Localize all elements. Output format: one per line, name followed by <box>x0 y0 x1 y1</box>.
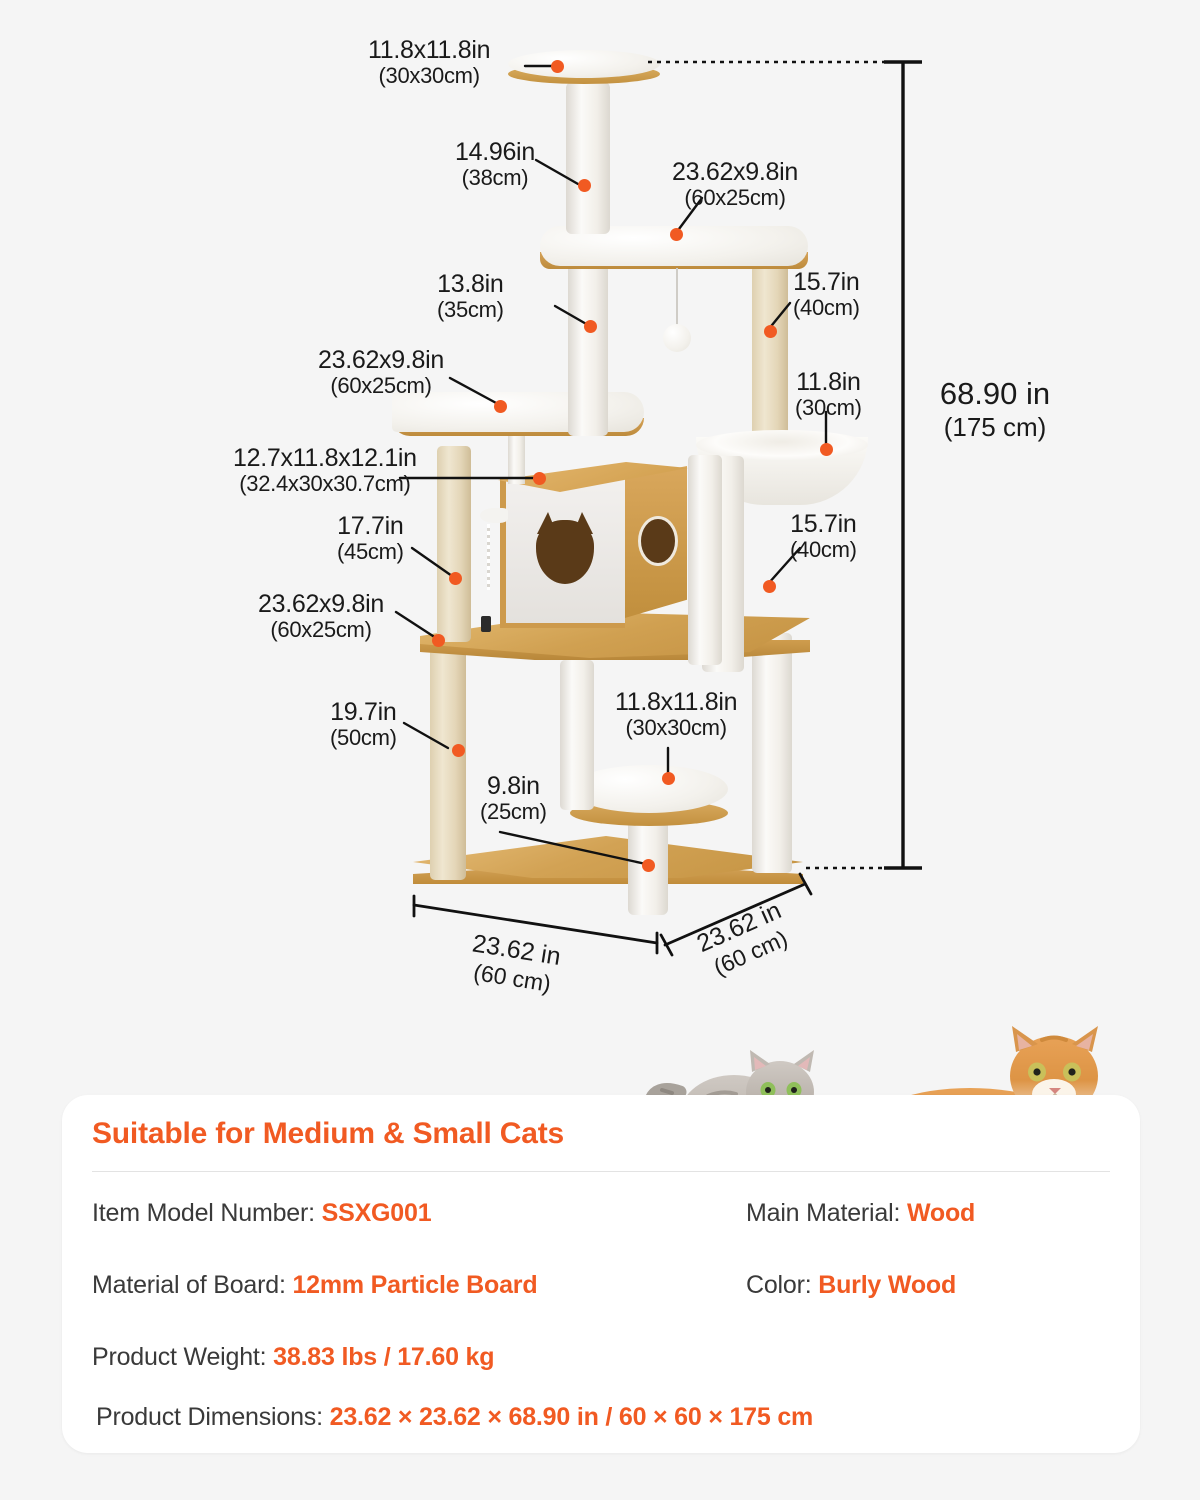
spec-row-product-weight: Product Weight: 38.83 lbs / 17.60 kg <box>92 1343 494 1372</box>
anchor-dot-right-post <box>763 580 776 593</box>
ball-toy-icon <box>663 324 691 352</box>
top-white-post <box>566 82 610 234</box>
anchor-dot-condo <box>533 472 546 485</box>
anchor-dot-sisal-post <box>449 572 462 585</box>
anchor-dot-bowl <box>820 443 833 456</box>
spec-row-product-dimensions: Product Dimensions: 23.62 × 23.62 × 68.9… <box>96 1403 813 1432</box>
toy-spring-icon <box>487 524 490 590</box>
anchor-dot-upper-right-post <box>764 325 777 338</box>
condo-support-post <box>508 432 525 484</box>
callout-top-post: 14.96in (38cm) <box>455 138 535 191</box>
callout-short-post: 9.8in (25cm) <box>480 772 547 825</box>
spec-label-color: Color: <box>746 1271 818 1299</box>
anchor-dot-short-post <box>642 859 655 872</box>
spec-label-product-dimensions: Product Dimensions: <box>96 1403 330 1431</box>
total-height-label: 68.90 in (175 cm) <box>905 375 1085 443</box>
cat-tree-illustration <box>0 0 1200 1030</box>
anchor-dot-round-perch <box>662 772 675 785</box>
spec-row-item-model-number: Item Model Number: SSXG001 <box>92 1199 431 1228</box>
anchor-dot-mid-post <box>584 320 597 333</box>
callout-round-perch: 11.8x11.8in (30x30cm) <box>615 688 737 741</box>
callout-sisal-post: 17.7in (45cm) <box>337 512 404 565</box>
spec-label-main-material: Main Material: <box>746 1199 907 1227</box>
callout-bowl-hammock: 11.8in (30cm) <box>795 368 862 421</box>
spec-label-item-model-number: Item Model Number: <box>92 1199 322 1227</box>
callout-top-perch: 11.8x11.8in (30x30cm) <box>368 36 490 89</box>
bowl-left-post <box>688 455 722 665</box>
spec-value-item-model-number: SSXG001 <box>322 1199 432 1227</box>
spec-label-product-weight: Product Weight: <box>92 1343 273 1371</box>
mouse-toy-icon <box>480 508 508 523</box>
callout-right-post: 15.7in (40cm) <box>790 510 857 563</box>
spec-row-main-material: Main Material: Wood <box>746 1199 975 1228</box>
anchor-dot-top-post <box>578 179 591 192</box>
spec-value-color: Burly Wood <box>818 1271 956 1299</box>
top-perch-plush <box>508 50 660 78</box>
callout-mid-platform: 23.62x9.8in (60x25cm) <box>318 346 444 399</box>
spec-value-main-material: Wood <box>907 1199 975 1227</box>
condo-round-opening <box>638 516 678 566</box>
right-tall-post <box>752 633 792 873</box>
spec-value-product-weight: 38.83 lbs / 17.60 kg <box>273 1343 494 1371</box>
anchor-dot-mid-platform <box>494 400 507 413</box>
anchor-dot-lower-platform <box>432 634 445 647</box>
callout-mid-post: 13.8in (35cm) <box>437 270 504 323</box>
spec-value-product-dimensions: 23.62 × 23.62 × 68.90 in / 60 × 60 × 175… <box>330 1403 813 1431</box>
spec-label-material-of-board: Material of Board: <box>92 1271 292 1299</box>
spec-card-divider <box>92 1171 1110 1172</box>
spec-row-color: Color: Burly Wood <box>746 1271 956 1300</box>
callout-lower-platform: 23.62x9.8in (60x25cm) <box>258 590 384 643</box>
spec-value-material-of-board: 12mm Particle Board <box>292 1271 537 1299</box>
spec-row-material-of-board: Material of Board: 12mm Particle Board <box>92 1271 537 1300</box>
spec-card-title: Suitable for Medium & Small Cats <box>92 1117 564 1151</box>
dimension-diagram: 11.8x11.8in (30x30cm) 14.96in (38cm) 23.… <box>0 0 1200 1030</box>
callout-upper-right-post: 15.7in (40cm) <box>793 268 860 321</box>
ball-toy-string <box>676 268 678 326</box>
anchor-dot-upper-platform <box>670 228 683 241</box>
toy-base-icon <box>481 616 491 632</box>
mid-sisal-post <box>437 446 471 642</box>
anchor-dot-base-post <box>452 744 465 757</box>
callout-cat-condo: 12.7x11.8x12.1in (32.4x30x30.7cm) <box>233 444 417 497</box>
upper-right-sisal-post <box>752 258 788 458</box>
callout-base-post: 19.7in (50cm) <box>330 698 397 751</box>
product-infographic-page: 11.8x11.8in (30x30cm) 14.96in (38cm) 23.… <box>0 0 1200 1500</box>
callout-upper-platform: 23.62x9.8in (60x25cm) <box>672 158 798 211</box>
anchor-dot-top-perch <box>551 60 564 73</box>
specification-card: Suitable for Medium & Small Cats Item Mo… <box>62 1095 1140 1453</box>
mid-vertical-post <box>568 258 608 436</box>
center-post-lower <box>560 660 594 810</box>
